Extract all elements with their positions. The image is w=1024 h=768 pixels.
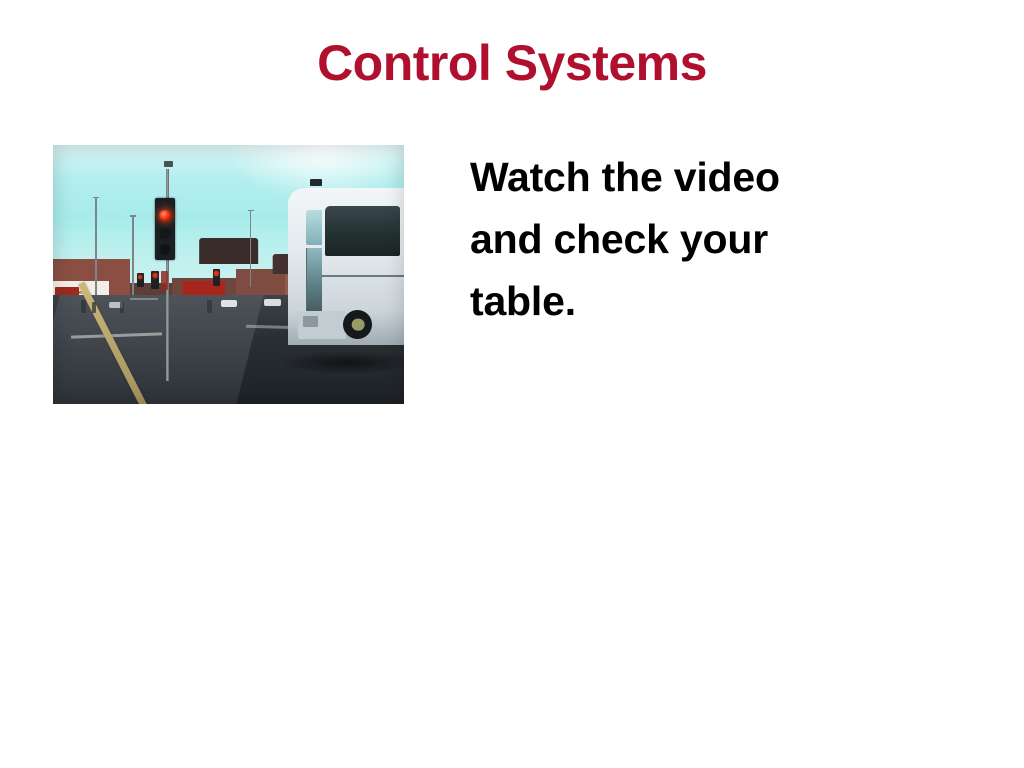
body-line-2: and check your <box>470 208 890 270</box>
traffic-light-pole-cap <box>164 161 172 168</box>
amber-lamp-icon <box>159 228 170 239</box>
coach-vent <box>303 316 318 327</box>
green-lamp-icon <box>159 244 170 255</box>
white-coach <box>278 179 404 371</box>
coach-trim-strip <box>321 275 404 277</box>
body-line-1: Watch the video <box>470 146 890 208</box>
body-line-3: table. <box>470 270 890 332</box>
coach-shadow <box>280 351 404 374</box>
lamp-post-arm <box>248 210 254 212</box>
lamp-post-right <box>250 210 252 288</box>
coach-side-windows <box>325 206 400 256</box>
lamp-post-left <box>95 197 97 295</box>
pedestrian <box>81 300 86 313</box>
lamp-post-arm <box>130 215 136 217</box>
coach-windscreen <box>306 210 322 245</box>
lamp-post-mid <box>132 215 134 295</box>
distant-traffic-light <box>213 269 220 286</box>
street-intersection-photo: Bier Carden <box>53 145 404 404</box>
distant-traffic-light <box>137 273 143 287</box>
traffic-light <box>153 161 181 381</box>
secondary-signal <box>161 271 167 291</box>
pedestrian <box>207 300 212 312</box>
distant-car <box>221 300 237 307</box>
page-title: Control Systems <box>0 36 1024 90</box>
coach-door <box>306 248 322 314</box>
coach-wheel-hub <box>352 318 365 331</box>
traffic-light-head <box>155 198 175 260</box>
coach-mirror <box>310 179 322 187</box>
coach-body <box>288 188 404 345</box>
distant-red-lamp <box>138 275 142 279</box>
lamp-post-arm <box>93 197 99 199</box>
distant-red-lamp <box>214 271 218 275</box>
pedestrian <box>92 302 96 314</box>
coach-wheel <box>343 310 372 339</box>
body-text: Watch the video and check your table. <box>470 146 890 332</box>
red-lamp-icon <box>159 210 171 222</box>
slide-canvas: Control Systems Bier Carden <box>0 0 1024 768</box>
pedestrian <box>120 302 124 314</box>
